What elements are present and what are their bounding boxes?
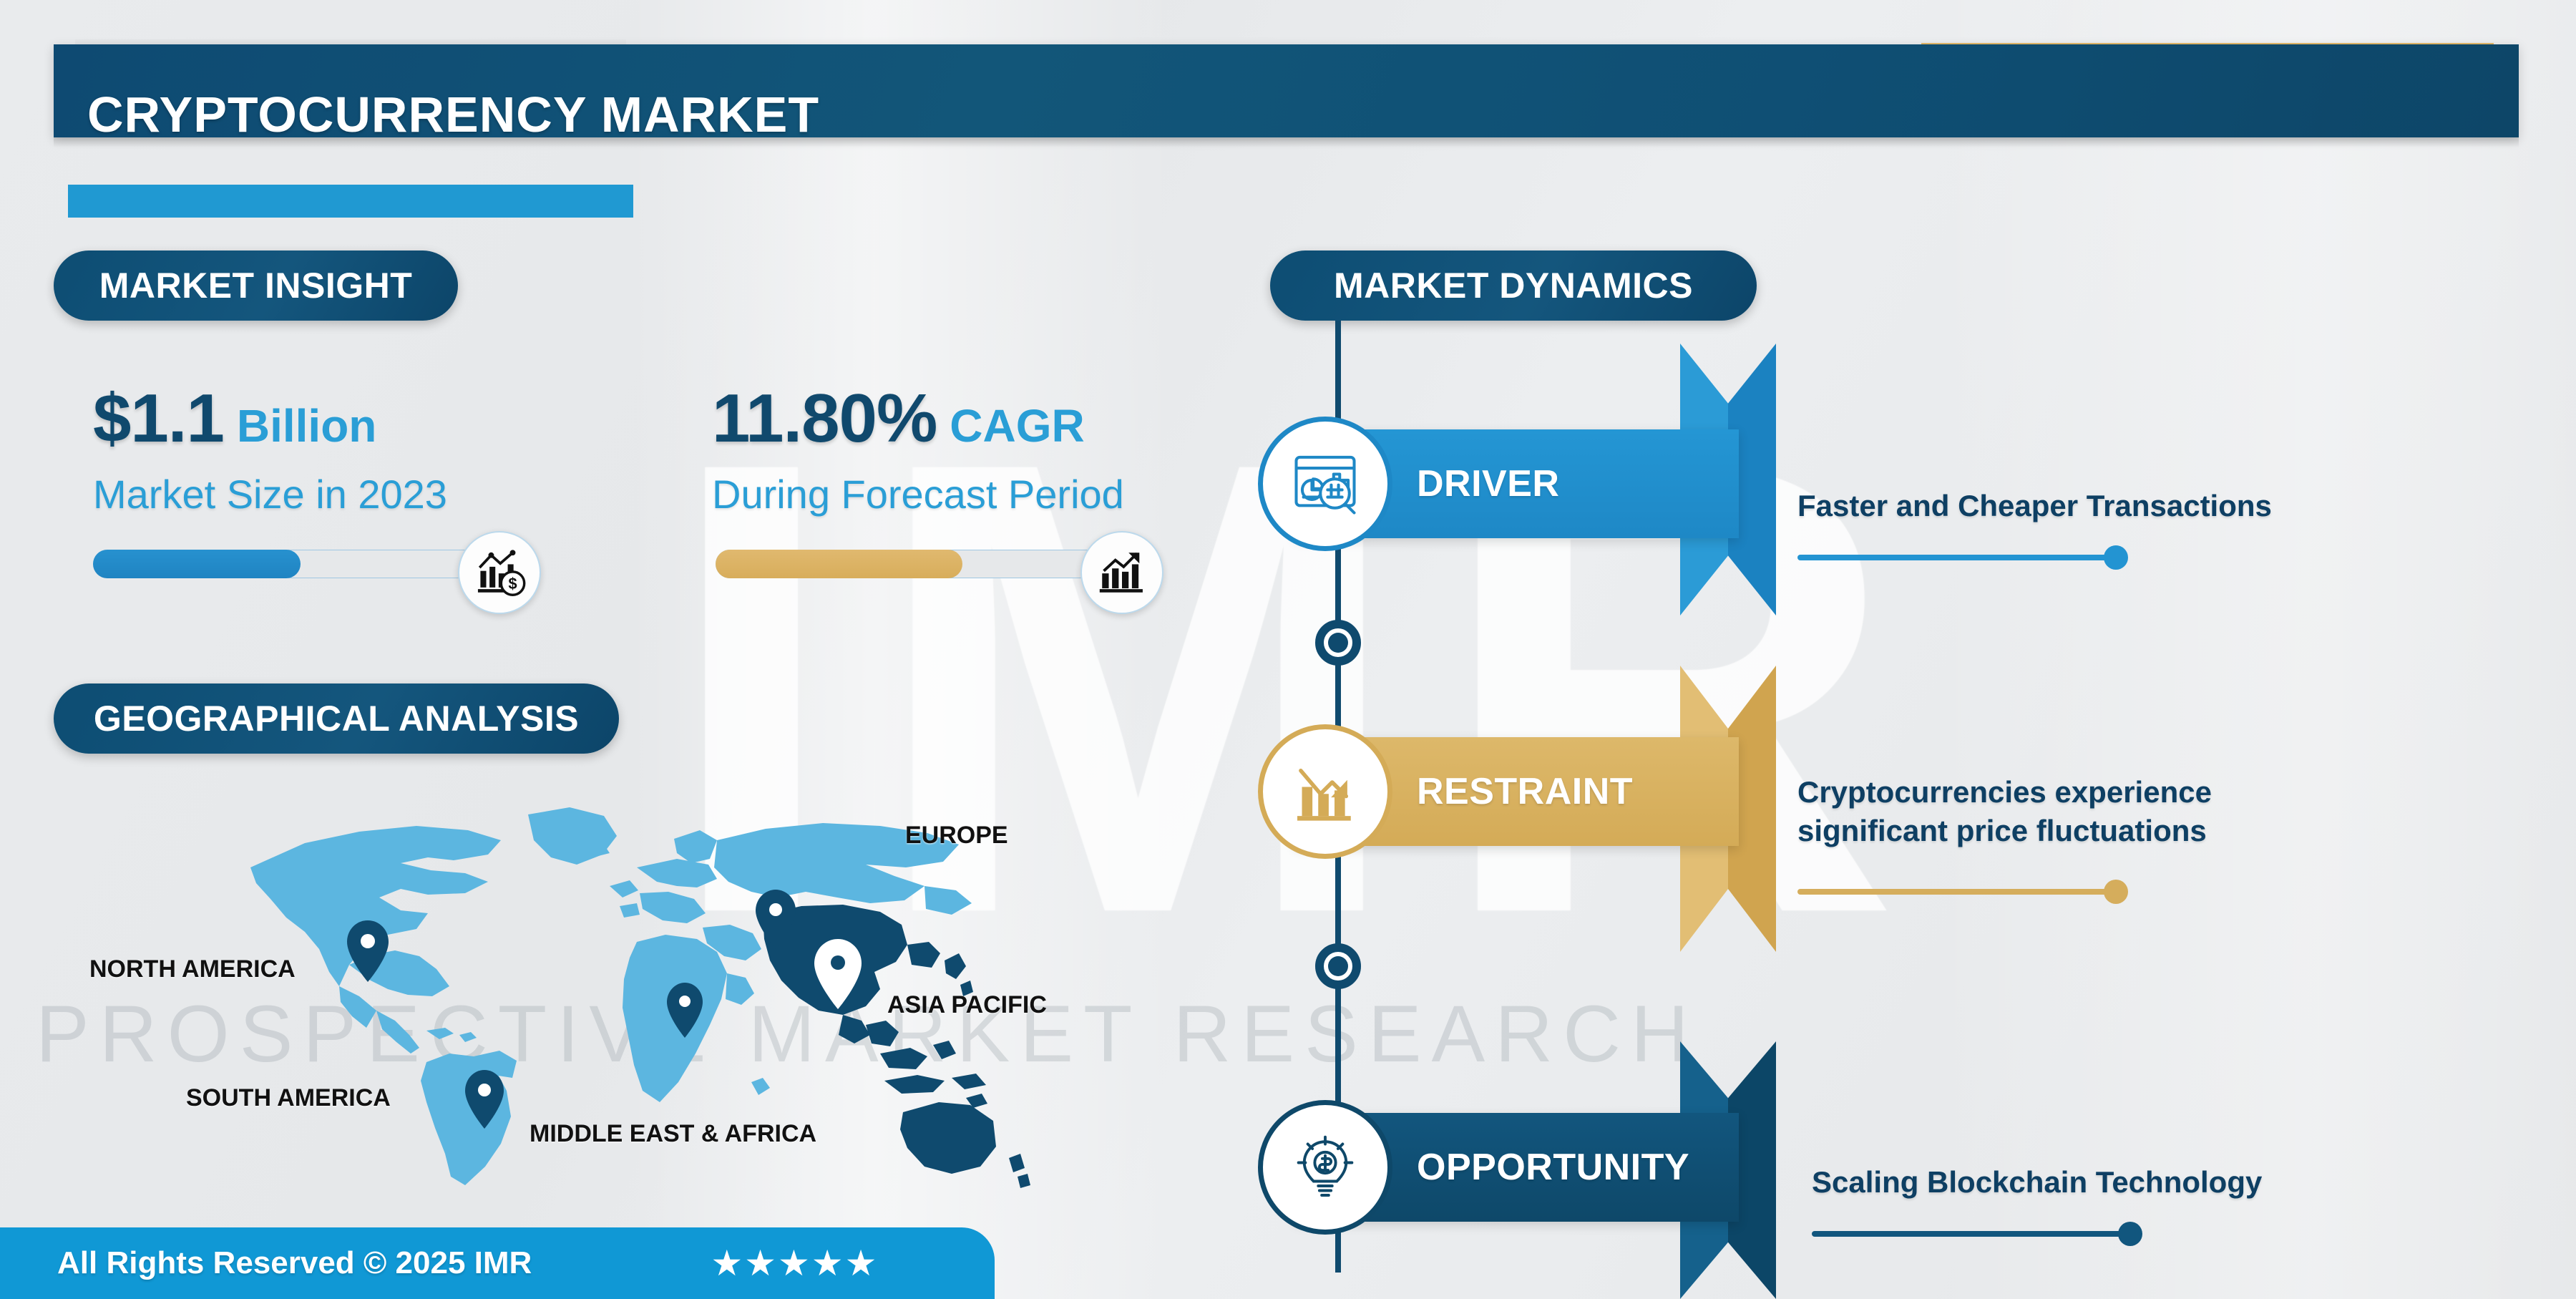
callout-end-dot — [2118, 1222, 2142, 1246]
region-label-north-america: NORTH AMERICA — [89, 955, 296, 983]
progress-market-size: $ — [93, 544, 540, 584]
dynamics-item-driver[interactable]: DRIVER — [1295, 429, 1739, 538]
progress-fill — [716, 550, 962, 578]
metric-cagr: 11.80%CAGR During Forecast Period — [712, 379, 1124, 517]
callout-rule — [1797, 889, 2112, 895]
metric-value: 11.80% — [712, 379, 937, 458]
timeline-node-icon — [1315, 943, 1361, 989]
callout-end-dot — [2104, 880, 2128, 904]
metric-market-size: $1.1Billion Market Size in 2023 — [93, 379, 447, 517]
bar-chart-dollar-icon: $ — [458, 531, 541, 614]
dynamics-label: OPPORTUNITY — [1417, 1146, 1689, 1189]
region-label-europe: EUROPE — [905, 822, 1008, 850]
section-label-market-dynamics: MARKET DYNAMICS — [1270, 250, 1757, 321]
callout-rule — [1797, 555, 2112, 560]
callout-restraint: Cryptocurrencies experience significant … — [1797, 773, 2212, 850]
lightbulb-dollar-icon — [1258, 1100, 1392, 1235]
background-sheen-right — [1932, 0, 2576, 1299]
section-label-market-insight: MARKET INSIGHT — [54, 250, 458, 321]
metric-caption: During Forecast Period — [712, 471, 1124, 517]
region-label-asia-pacific: ASIA PACIFIC — [887, 991, 1047, 1019]
dynamics-label: RESTRAINT — [1417, 770, 1633, 813]
dynamics-item-opportunity[interactable]: OPPORTUNITY — [1295, 1113, 1739, 1222]
rating-stars-icon: ★★★★★ — [711, 1242, 878, 1284]
footer-bar: All Rights Reserved © 2025 IMR ★★★★★ — [0, 1227, 995, 1299]
callout-rule — [1812, 1231, 2127, 1237]
callout-opportunity: Scaling Blockchain Technology — [1812, 1163, 2262, 1202]
region-label-middle-east-africa: MIDDLE EAST & AFRICA — [530, 1120, 816, 1148]
region-label-south-america: SOUTH AMERICA — [186, 1084, 391, 1112]
analytics-dashboard-search-icon — [1258, 417, 1392, 551]
growth-arrow-chart-icon — [1080, 531, 1163, 614]
section-label-geographical-analysis: GEOGRAPHICAL ANALYSIS — [54, 683, 619, 754]
metric-unit: Billion — [237, 399, 377, 452]
callout-text: Scaling Blockchain Technology — [1812, 1163, 2262, 1202]
declining-bar-chart-icon — [1258, 724, 1392, 859]
callout-text: Cryptocurrencies experience significant … — [1797, 773, 2212, 850]
dynamics-item-restraint[interactable]: RESTRAINT — [1295, 737, 1739, 846]
dynamics-label: DRIVER — [1417, 462, 1559, 505]
callout-driver: Faster and Cheaper Transactions — [1797, 487, 2272, 525]
progress-cagr — [716, 544, 1163, 584]
metric-value: $1.1 — [93, 379, 224, 458]
metric-unit: CAGR — [950, 399, 1084, 452]
callout-text: Faster and Cheaper Transactions — [1797, 487, 2272, 525]
copyright-text: All Rights Reserved © 2025 IMR — [57, 1245, 532, 1281]
page-title: CRYPTOCURRENCY MARKET — [87, 86, 819, 143]
header-blue-accent — [68, 185, 633, 218]
metric-caption: Market Size in 2023 — [93, 471, 447, 517]
timeline-node-icon — [1315, 620, 1361, 666]
callout-end-dot — [2104, 545, 2128, 570]
progress-fill — [93, 550, 301, 578]
svg-text:$: $ — [508, 575, 517, 593]
